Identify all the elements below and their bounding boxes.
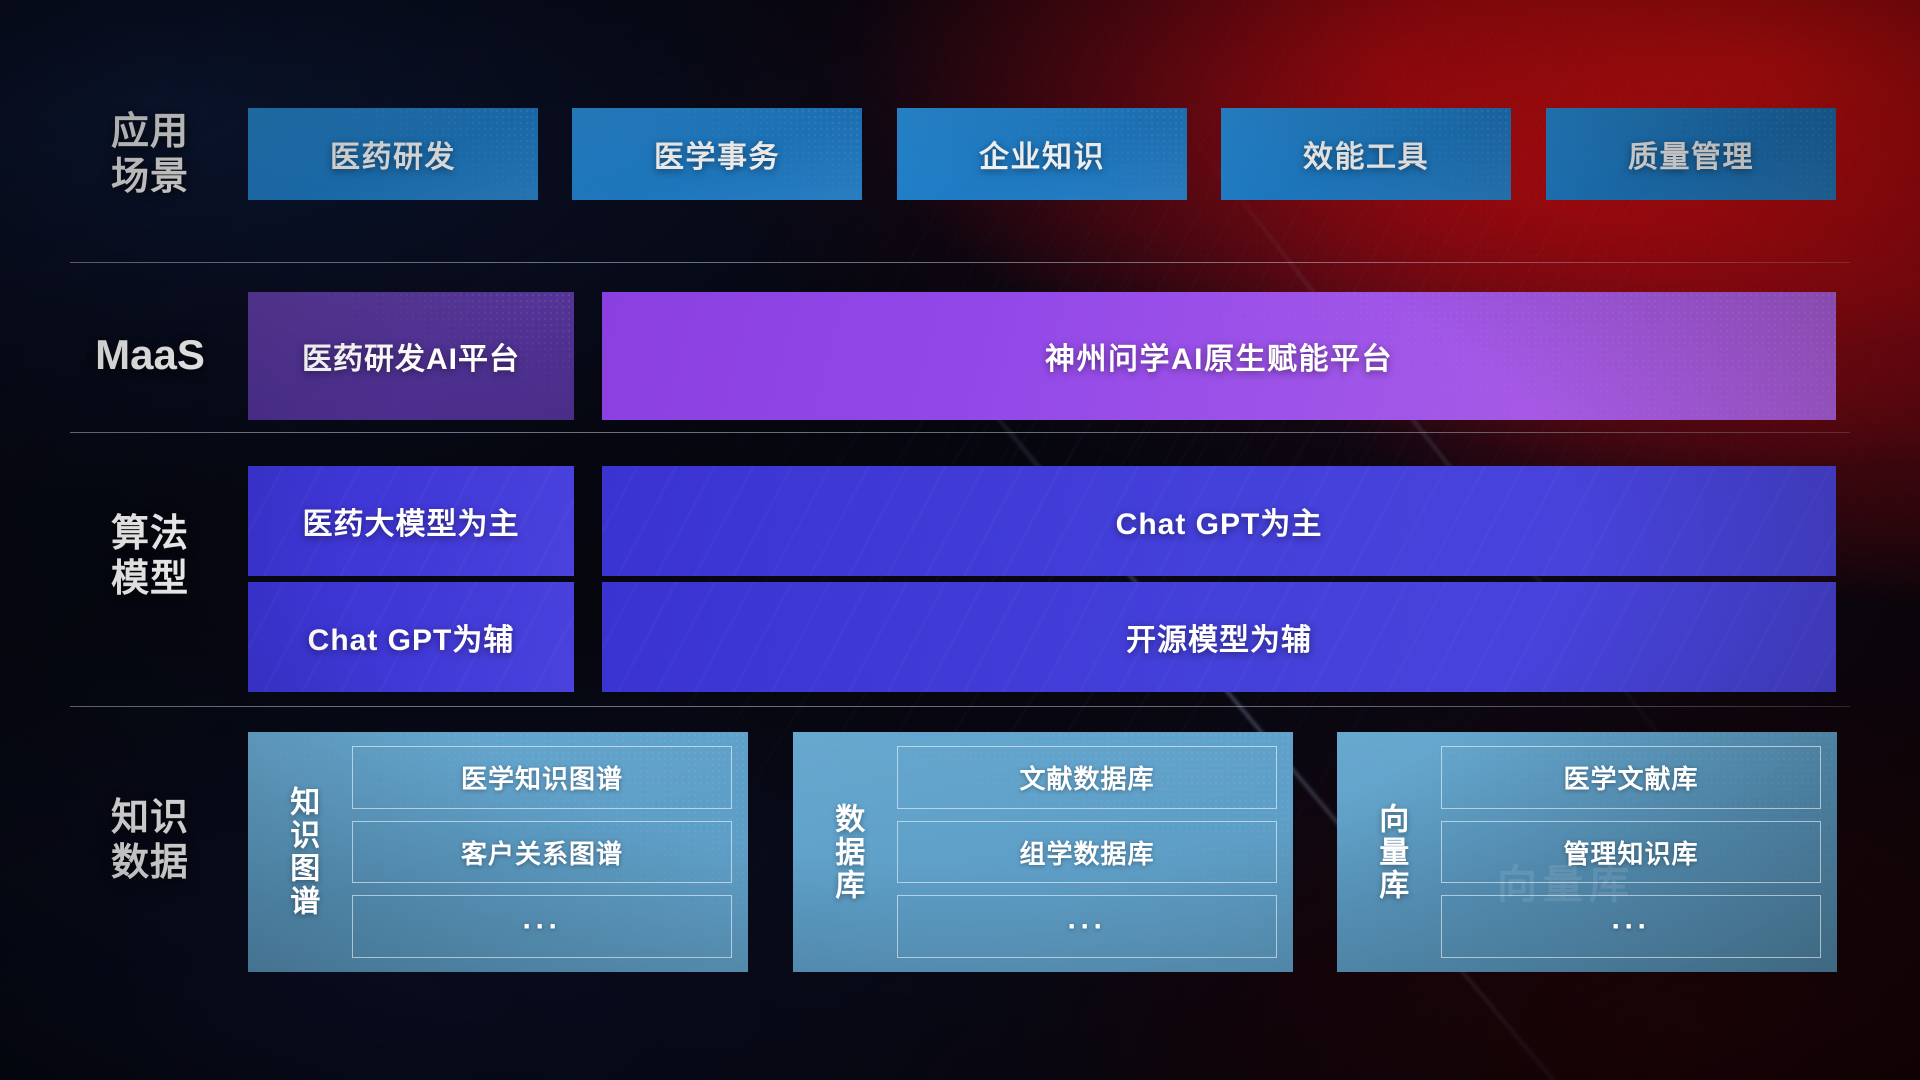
knowledge-group-title: 知识图谱	[264, 746, 338, 958]
knowledge-group-title: 向量库	[1353, 746, 1427, 958]
app-box-efficiency-tools[interactable]: 效能工具	[1221, 108, 1511, 200]
knowledge-item[interactable]: 组学数据库	[897, 821, 1277, 884]
divider-algorithm-knowledge	[70, 706, 1850, 707]
algo-box-pharma-llm-primary[interactable]: 医药大模型为主	[248, 466, 574, 576]
row-label-maas: MaaS	[70, 330, 230, 380]
knowledge-item[interactable]: 文献数据库	[897, 746, 1277, 809]
app-box-enterprise-knowledge[interactable]: 企业知识	[897, 108, 1187, 200]
algo-box-label: 医药大模型为主	[303, 499, 520, 543]
algo-box-label: Chat GPT为辅	[308, 615, 515, 659]
algo-box-chatgpt-secondary[interactable]: Chat GPT为辅	[248, 582, 574, 692]
knowledge-item-more[interactable]: ···	[897, 895, 1277, 958]
algo-box-chatgpt-primary[interactable]: Chat GPT为主	[602, 466, 1836, 576]
maas-box-shenzhou-wenxue-platform[interactable]: 神州问学AI原生赋能平台	[602, 292, 1836, 420]
app-box-label: 效能工具	[1303, 132, 1429, 176]
architecture-diagram-canvas: 应用 场景 医药研发 医学事务 企业知识 效能工具 质量管理 MaaS 医药研发…	[0, 0, 1920, 1080]
knowledge-group-title: 数据库	[809, 746, 883, 958]
app-box-medicine-rd[interactable]: 医药研发	[248, 108, 538, 200]
algo-box-opensource-secondary[interactable]: 开源模型为辅	[602, 582, 1836, 692]
knowledge-item[interactable]: 管理知识库	[1441, 821, 1821, 884]
row-label-knowledge: 知识 数据	[70, 796, 230, 886]
maas-box-label: 神州问学AI原生赋能平台	[1045, 334, 1393, 378]
knowledge-item[interactable]: 医学知识图谱	[352, 746, 732, 809]
app-box-quality-management[interactable]: 质量管理	[1546, 108, 1836, 200]
knowledge-group-database[interactable]: 数据库 文献数据库 组学数据库 ···	[793, 732, 1293, 972]
maas-box-label: 医药研发AI平台	[302, 334, 520, 378]
algo-box-label: 开源模型为辅	[1126, 615, 1312, 659]
row-label-algorithm: 算法 模型	[70, 512, 230, 602]
divider-maas-algorithm	[70, 432, 1850, 433]
divider-application-maas	[70, 262, 1850, 263]
app-box-medical-affairs[interactable]: 医学事务	[572, 108, 862, 200]
app-box-label: 医学事务	[654, 132, 780, 176]
knowledge-group-vector[interactable]: 向量库 医学文献库 管理知识库 ··· 向量库	[1337, 732, 1837, 972]
knowledge-item[interactable]: 客户关系图谱	[352, 821, 732, 884]
app-box-label: 医药研发	[330, 132, 456, 176]
algo-box-label: Chat GPT为主	[1116, 499, 1323, 543]
knowledge-group-graph[interactable]: 知识图谱 医学知识图谱 客户关系图谱 ···	[248, 732, 748, 972]
row-label-application: 应用 场景	[70, 110, 230, 200]
maas-box-pharma-ai-platform[interactable]: 医药研发AI平台	[248, 292, 574, 420]
knowledge-item[interactable]: 医学文献库	[1441, 746, 1821, 809]
knowledge-item-more[interactable]: ···	[1441, 895, 1821, 958]
app-box-label: 企业知识	[979, 132, 1105, 176]
app-box-label: 质量管理	[1628, 132, 1754, 176]
knowledge-item-more[interactable]: ···	[352, 895, 732, 958]
